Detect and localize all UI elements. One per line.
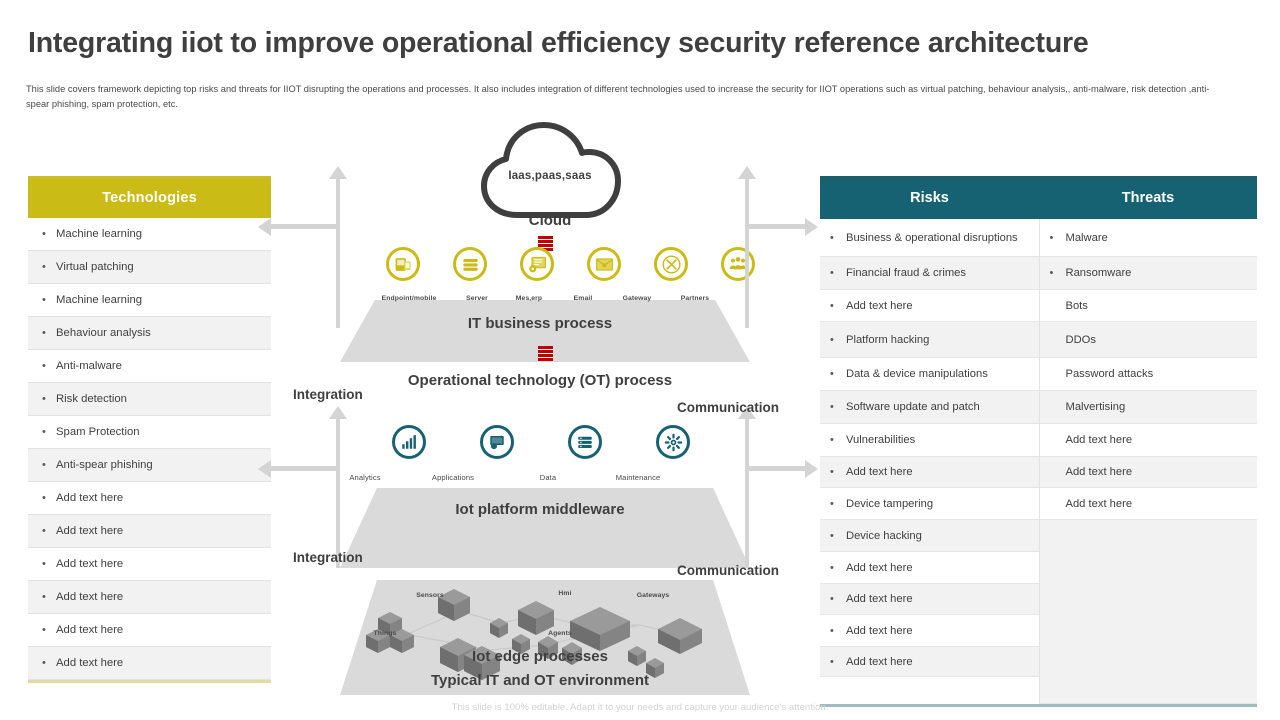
bullet-icon: • <box>42 624 56 636</box>
left-horizontal-line-bottom <box>271 466 338 471</box>
threat-row[interactable]: Malvertising <box>1040 391 1258 424</box>
threats-column: •Malware•RansomwareBotsDDOsPassword atta… <box>1040 219 1258 704</box>
risks-threats-body: •Business & operational disruptions•Fina… <box>820 219 1257 704</box>
technology-row[interactable]: •Add text here <box>28 482 271 515</box>
technology-label: Anti-spear phishing <box>56 459 153 471</box>
bullet-icon: • <box>42 558 56 570</box>
technology-row[interactable]: •Behaviour analysis <box>28 317 271 350</box>
risk-row[interactable]: •Add text here <box>820 552 1039 584</box>
risk-label: Add text here <box>846 561 913 575</box>
technology-label: Behaviour analysis <box>56 327 151 339</box>
risk-label: Software update and patch <box>846 400 980 414</box>
risk-label: Device hacking <box>846 529 922 543</box>
middleware-icon-row <box>392 425 690 459</box>
bullet-icon: • <box>830 656 846 668</box>
slide-footer: This slide is 100% editable. Adapt it to… <box>0 702 1280 713</box>
technology-row[interactable]: •Add text here <box>28 515 271 548</box>
right-horizontal-line-top <box>745 224 805 229</box>
architecture-diagram: Iaas,paas,saas Cloud Endpoint/mobileServ… <box>280 120 800 700</box>
slide-root: Integrating iiot to improve operational … <box>0 0 1280 720</box>
risks-threats-panel: Risks Threats •Business & operational di… <box>820 176 1257 707</box>
technology-label: Machine learning <box>56 228 142 240</box>
risk-label: Add text here <box>846 299 913 313</box>
technology-label: Add text here <box>56 525 123 537</box>
threat-label: Ransomware <box>1066 266 1132 280</box>
left-arrow-head-tech-bottom <box>258 460 271 478</box>
bullet-icon: • <box>830 300 846 312</box>
risk-label: Data & device manipulations <box>846 367 988 381</box>
bullet-icon: • <box>1050 232 1066 244</box>
typical-environment-label: Typical IT and OT environment <box>280 672 800 689</box>
risk-label: Add text here <box>846 465 913 479</box>
bullet-icon: • <box>830 267 846 279</box>
risk-row[interactable]: •Add text here <box>820 615 1039 647</box>
risk-label: Add text here <box>846 592 913 606</box>
edge-node-agents-label: Agents <box>535 630 585 637</box>
technology-row[interactable]: •Machine learning <box>28 218 271 251</box>
bullet-icon: • <box>42 261 56 273</box>
risk-row[interactable]: •Data & device manipulations <box>820 358 1039 391</box>
partners-icon[interactable] <box>721 247 755 281</box>
threat-label: Add text here <box>1066 433 1133 447</box>
threat-row[interactable]: Add text here <box>1040 424 1258 457</box>
bullet-icon: • <box>42 327 56 339</box>
maintenance-icon[interactable] <box>656 425 690 459</box>
bullet-icon: • <box>42 657 56 669</box>
technologies-bottom-rule <box>28 680 271 683</box>
bullet-icon: • <box>830 334 846 346</box>
technology-row[interactable]: •Add text here <box>28 548 271 581</box>
left-vertical-line-top <box>336 178 340 328</box>
risk-label: Vulnerabilities <box>846 433 915 447</box>
threat-label: DDOs <box>1066 333 1096 347</box>
analytics-label: Analytics <box>320 473 410 482</box>
technology-row[interactable]: •Add text here <box>28 581 271 614</box>
bullet-icon: • <box>42 294 56 306</box>
partners-label: Partners <box>650 295 740 302</box>
threat-row[interactable]: DDOs <box>1040 322 1258 358</box>
threat-label: Bots <box>1066 299 1088 313</box>
technology-label: Add text here <box>56 657 123 669</box>
bullet-icon: • <box>830 625 846 637</box>
edge-node-hmi-label: Hmi <box>545 590 585 597</box>
integration-label-top: Integration <box>293 387 363 402</box>
risk-row[interactable]: •Vulnerabilities <box>820 424 1039 457</box>
integration-label-bottom: Integration <box>293 550 363 565</box>
applications-icon[interactable] <box>480 425 514 459</box>
bullet-icon: • <box>42 426 56 438</box>
threat-row[interactable]: •Malware <box>1040 219 1258 257</box>
technologies-panel: Technologies •Machine learning•Virtual p… <box>28 176 271 683</box>
iot-middleware-band <box>340 488 750 568</box>
risk-row[interactable]: •Device tampering <box>820 488 1039 520</box>
threats-column-header: Threats <box>1039 179 1257 219</box>
risk-label: Platform hacking <box>846 333 929 347</box>
iot-middleware-label: Iot platform middleware <box>280 501 800 518</box>
bullet-icon: • <box>42 228 56 240</box>
right-vertical-line-top <box>745 178 749 328</box>
it-business-process-label: IT business process <box>280 315 800 332</box>
bullet-icon: • <box>42 459 56 471</box>
bullet-icon: • <box>830 466 846 478</box>
risk-label: Business & operational disruptions <box>846 231 1018 245</box>
bullet-icon: • <box>42 591 56 603</box>
server-icon[interactable] <box>453 247 487 281</box>
risk-row[interactable]: •Add text here <box>820 457 1039 488</box>
technology-label: Risk detection <box>56 393 127 405</box>
threat-row[interactable]: Add text here <box>1040 457 1258 488</box>
threat-label: Malware <box>1066 231 1108 245</box>
firewall-icon-ot <box>538 346 553 361</box>
technology-label: Anti-malware <box>56 360 122 372</box>
technology-label: Add text here <box>56 492 123 504</box>
analytics-icon[interactable] <box>392 425 426 459</box>
risk-row[interactable]: •Add text here <box>820 290 1039 322</box>
technology-label: Spam Protection <box>56 426 140 438</box>
risk-label: Device tampering <box>846 497 933 511</box>
left-horizontal-line-top <box>271 224 338 229</box>
risk-label: Add text here <box>846 655 913 669</box>
technology-row[interactable]: •Add text here <box>28 614 271 647</box>
edge-node-gateways-label: Gateways <box>625 592 681 599</box>
technology-label: Machine learning <box>56 294 142 306</box>
technology-row[interactable]: •Add text here <box>28 647 271 680</box>
maintenance-label: Maintenance <box>593 473 683 482</box>
edge-node-sensors-label: Sensors <box>400 592 460 599</box>
bullet-icon: • <box>42 393 56 405</box>
risks-column: •Business & operational disruptions•Fina… <box>820 219 1040 704</box>
technology-label: Add text here <box>56 558 123 570</box>
gateway-icon[interactable] <box>654 247 688 281</box>
bullet-icon: • <box>830 498 846 510</box>
risk-row[interactable]: •Platform hacking <box>820 322 1039 358</box>
bullet-icon: • <box>830 530 846 542</box>
technology-row[interactable]: •Anti-malware <box>28 350 271 383</box>
technology-row[interactable]: •Virtual patching <box>28 251 271 284</box>
technology-label: Add text here <box>56 591 123 603</box>
risk-row[interactable]: •Financial fraud & crimes <box>820 257 1039 290</box>
risk-row[interactable]: •Device hacking <box>820 520 1039 552</box>
endpoint-mobile-icon[interactable] <box>386 247 420 281</box>
bullet-icon: • <box>830 232 846 244</box>
communication-label-top: Communication <box>677 400 779 415</box>
technology-row[interactable]: •Anti-spear phishing <box>28 449 271 482</box>
data-icon[interactable] <box>568 425 602 459</box>
left-vertical-line-bottom <box>336 418 340 568</box>
bullet-icon: • <box>830 368 846 380</box>
threat-row[interactable]: Add text here <box>1040 488 1258 520</box>
left-arrow-head-tech-top <box>258 218 271 236</box>
technology-row[interactable]: •Spam Protection <box>28 416 271 449</box>
technology-row[interactable]: •Risk detection <box>28 383 271 416</box>
technologies-list: •Machine learning•Virtual patching•Machi… <box>28 218 271 680</box>
risk-row[interactable]: •Software update and patch <box>820 391 1039 424</box>
it-icon-row <box>386 247 755 281</box>
page-title: Integrating iiot to improve operational … <box>28 26 1258 60</box>
threat-label: Password attacks <box>1066 367 1154 381</box>
right-arrow-head-risks-top <box>805 218 818 236</box>
right-vertical-line-bottom <box>745 418 749 568</box>
right-horizontal-line-bottom <box>745 466 805 471</box>
iot-edge-label: Iot edge processes <box>280 648 800 665</box>
applications-label: Applications <box>408 473 498 482</box>
technology-label: Virtual patching <box>56 261 134 273</box>
bullet-icon: • <box>830 401 846 413</box>
right-arrow-head-risks-bottom <box>805 460 818 478</box>
bullet-icon: • <box>42 525 56 537</box>
threat-label: Malvertising <box>1066 400 1126 414</box>
slide-subtitle: This slide covers framework depicting to… <box>26 82 1222 112</box>
technologies-header: Technologies <box>28 179 271 218</box>
bullet-icon: • <box>42 360 56 372</box>
risk-label: Add text here <box>846 624 913 638</box>
risk-row[interactable]: •Add text here <box>820 584 1039 615</box>
threat-label: Add text here <box>1066 497 1133 511</box>
communication-label-bottom: Communication <box>677 563 779 578</box>
email-icon[interactable] <box>587 247 621 281</box>
bullet-icon: • <box>830 593 846 605</box>
threat-row[interactable]: Password attacks <box>1040 358 1258 391</box>
bullet-icon: • <box>42 492 56 504</box>
cloud-service-models: Iaas,paas,saas <box>465 170 635 182</box>
technology-row[interactable]: •Machine learning <box>28 284 271 317</box>
risks-column-header: Risks <box>820 179 1039 219</box>
bullet-icon: • <box>830 434 846 446</box>
data-label: Data <box>503 473 593 482</box>
bullet-icon: • <box>830 562 846 574</box>
mes-erp-icon[interactable] <box>520 247 554 281</box>
risk-label: Financial fraud & crimes <box>846 266 966 280</box>
edge-node-things-label: Things <box>360 630 410 637</box>
risk-row[interactable]: •Business & operational disruptions <box>820 219 1039 257</box>
cloud-label: Cloud <box>430 212 670 229</box>
bullet-icon: • <box>1050 267 1066 279</box>
threat-label: Add text here <box>1066 465 1133 479</box>
risk-row[interactable]: •Add text here <box>820 647 1039 677</box>
threat-row[interactable]: Bots <box>1040 290 1258 322</box>
technology-label: Add text here <box>56 624 123 636</box>
threats-empty-filler <box>1040 520 1258 704</box>
risks-threats-header-row: Risks Threats <box>820 179 1257 219</box>
threat-row[interactable]: •Ransomware <box>1040 257 1258 290</box>
